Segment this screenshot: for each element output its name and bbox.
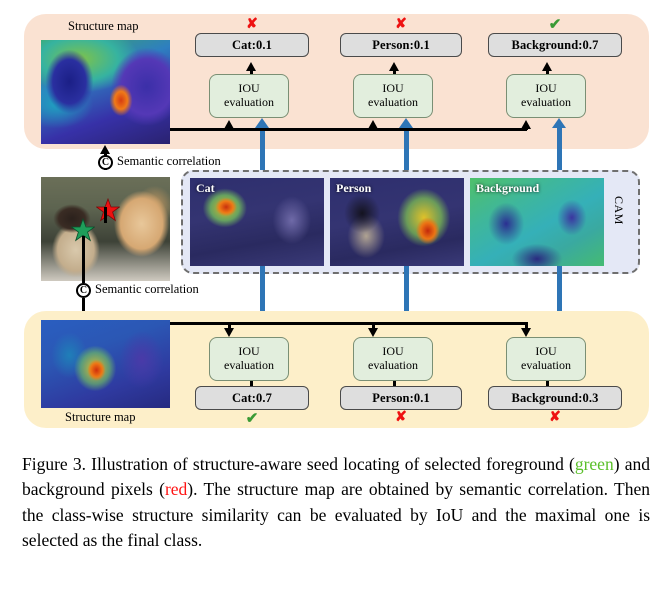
iou-line-2: evaluation [521,96,571,110]
top-mark-cat: ✘ [239,16,265,33]
bottom-bus-line [170,322,527,325]
iou-line-1: IOU [535,82,556,96]
caption-green-word: green [575,454,614,474]
bottom-iou-box-background[interactable]: IOU evaluation [506,337,586,381]
top-chip-cat[interactable]: Cat:0.1 [195,33,309,57]
cam-tile-person: Person [330,178,464,266]
bottom-chip-background[interactable]: Background:0.3 [488,386,622,410]
heatmap-layer [41,320,170,408]
bottom-iou-box-person[interactable]: IOU evaluation [353,337,433,381]
caption-part-1: Figure 3. Illustration of structure-awar… [22,454,575,474]
iou-line-1: IOU [238,82,259,96]
top-iou-box-cat[interactable]: IOU evaluation [209,74,289,118]
iou-line-2: evaluation [368,359,418,373]
top-iou-box-person[interactable]: IOU evaluation [353,74,433,118]
top-chip-person[interactable]: Person:0.1 [340,33,462,57]
caption-red-word: red [165,479,187,499]
iou-line-1: IOU [535,345,556,359]
top-bus-line [170,128,527,131]
top-chip-background[interactable]: Background:0.7 [488,33,622,57]
iou-line-2: evaluation [368,96,418,110]
semantic-correlation-label-top: Semantic correlation [117,154,221,169]
photo-layer [41,177,170,281]
cam-side-label: CAM [611,196,626,225]
iou-line-1: IOU [382,82,403,96]
top-structure-map-image [41,40,170,144]
iou-line-2: evaluation [521,359,571,373]
top-structure-map-label: Structure map [68,19,138,34]
top-iou-box-background[interactable]: IOU evaluation [506,74,586,118]
cam-tile-label-person: Person [336,181,371,196]
iou-line-1: IOU [382,345,403,359]
bottom-drop-head-1 [224,328,234,337]
bottom-drop-head-3 [521,328,531,337]
cam-tile-label-background: Background [476,181,539,196]
iou-line-2: evaluation [224,359,274,373]
cam-tile-background: Background [470,178,604,266]
cam-tile-label-cat: Cat [196,181,215,196]
semantic-correlation-label-bottom: Semantic correlation [95,282,199,297]
bottom-structure-map-label: Structure map [65,410,135,425]
bottom-chip-cat[interactable]: Cat:0.7 [195,386,309,410]
top-mark-person: ✘ [388,16,414,33]
bottom-mark-background: ✘ [542,409,568,426]
star-red-connector [104,207,107,223]
star-green-connector [82,236,85,283]
bottom-mark-cat: ✔ [239,409,265,428]
heatmap-layer [41,40,170,144]
semantic-correlation-circle-bottom: C [76,283,91,298]
bottom-drop-head-2 [368,328,378,337]
semantic-correlation-circle-top: C [98,155,113,170]
top-mark-background: ✔ [542,15,568,34]
figure-caption: Figure 3. Illustration of structure-awar… [22,452,650,554]
bottom-mark-person: ✘ [388,409,414,426]
cam-tile-cat: Cat [190,178,324,266]
bottom-structure-map-image [41,320,170,408]
iou-line-1: IOU [238,345,259,359]
bottom-chip-person[interactable]: Person:0.1 [340,386,462,410]
iou-line-2: evaluation [224,96,274,110]
original-image [41,177,170,281]
bottom-iou-box-cat[interactable]: IOU evaluation [209,337,289,381]
